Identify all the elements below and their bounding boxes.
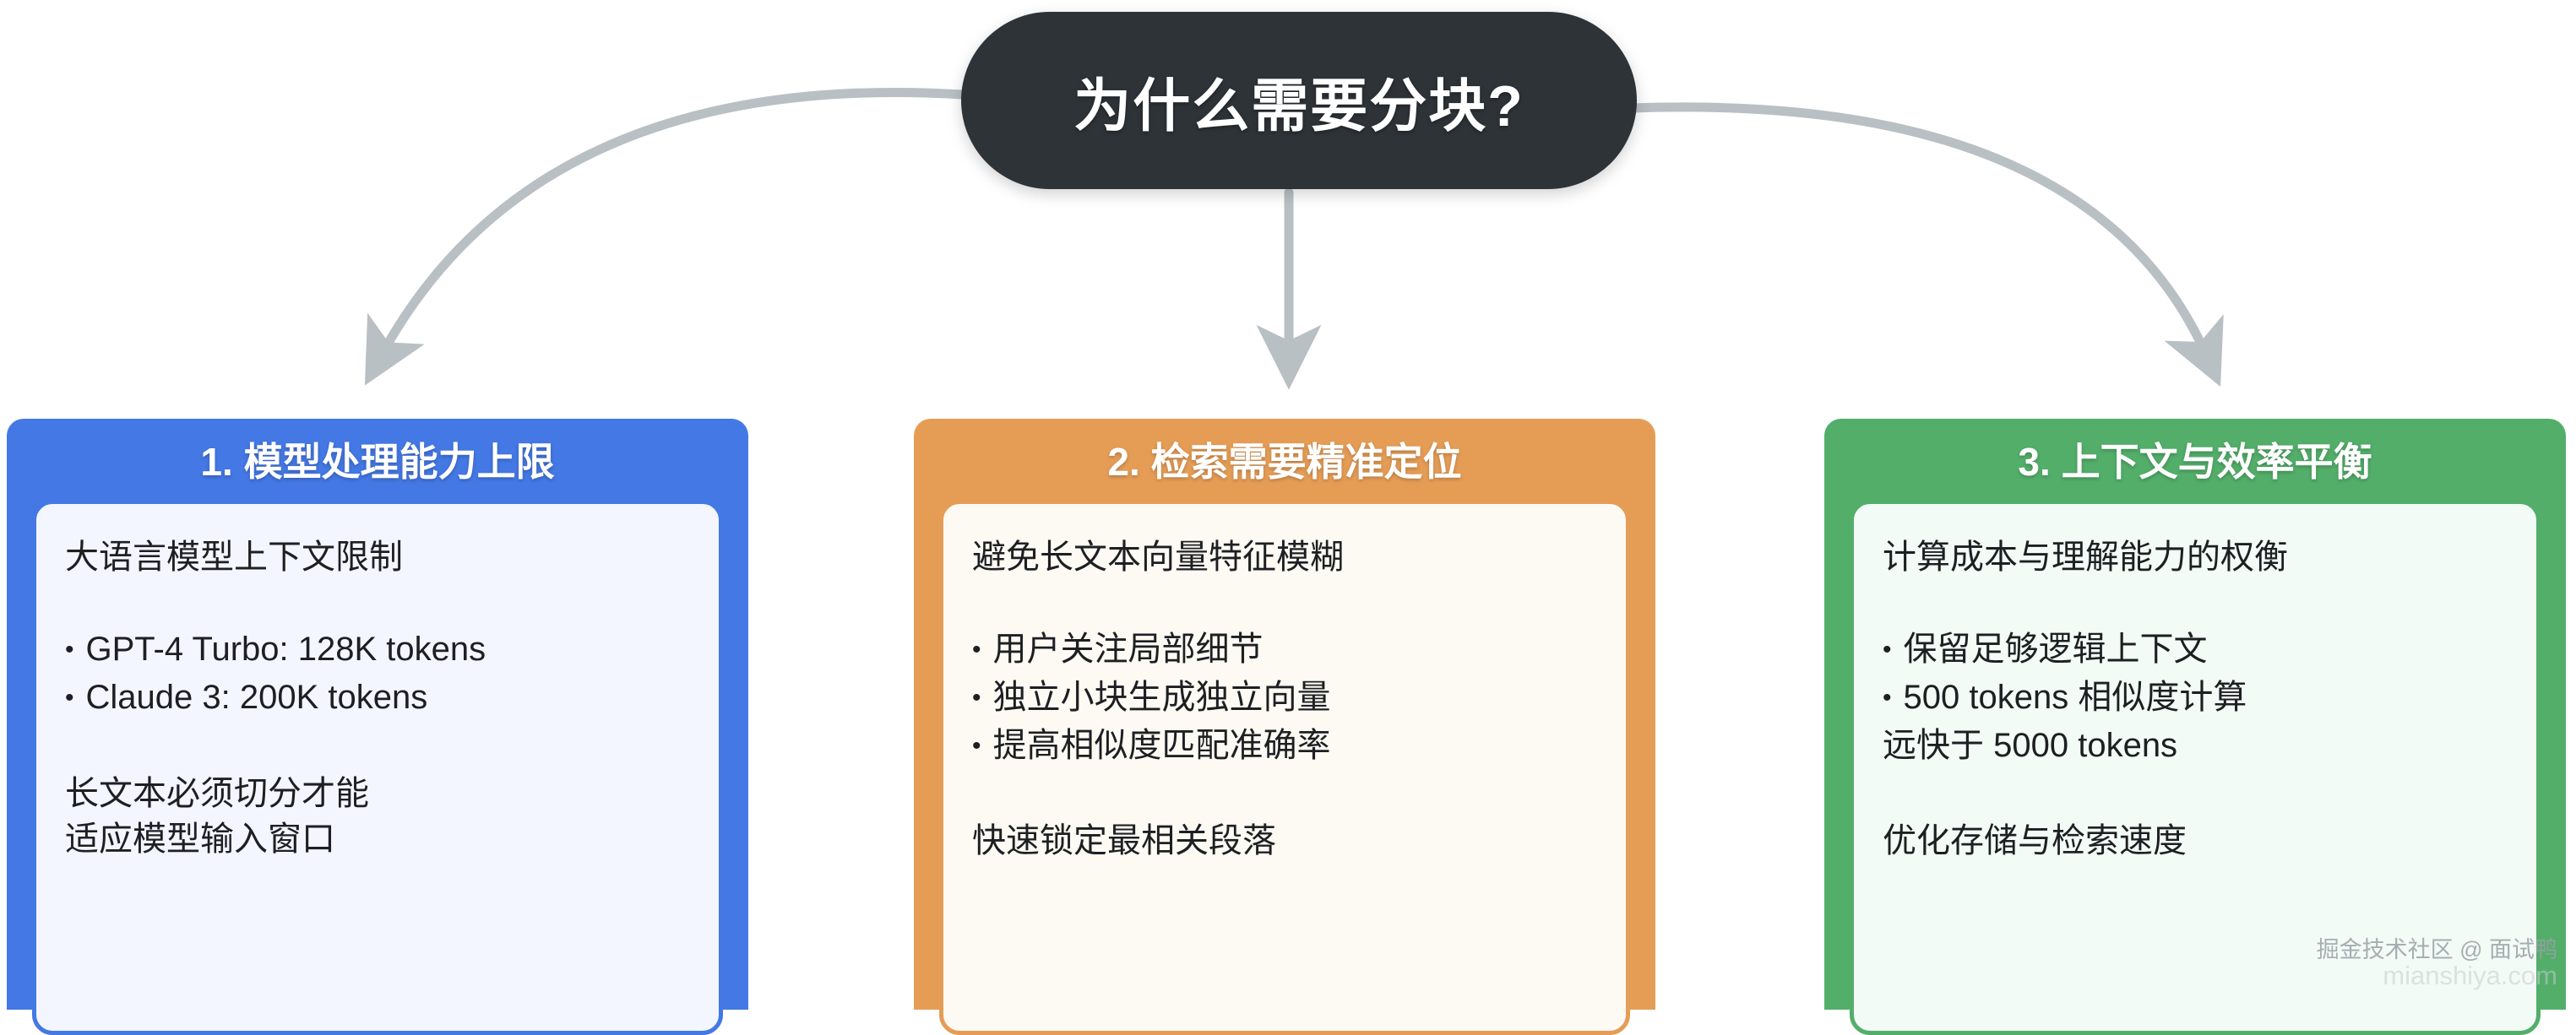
card-2-lead: 避免长文本向量特征模糊: [972, 534, 1597, 580]
arrow-root-to-card1: [382, 92, 963, 355]
root-node-title: 为什么需要分块?: [1073, 59, 1524, 143]
card-2-bullets: 用户关注局部细节 独立小块生成独立向量 提高相似度匹配准确率: [972, 626, 1597, 769]
root-node: 为什么需要分块?: [961, 12, 1637, 189]
list-item: 保留足够逻辑上下文: [1883, 626, 2508, 674]
list-item: 500 tokens 相似度计算: [1883, 674, 2508, 722]
arrow-root-to-card3: [1632, 107, 2206, 355]
list-item: 用户关注局部细节: [972, 626, 1597, 674]
card-3-header: 3. 上下文与效率平衡: [1824, 419, 2566, 500]
branch-card-1: 1. 模型处理能力上限 大语言模型上下文限制 GPT-4 Turbo: 128K…: [7, 419, 748, 1010]
list-item: 提高相似度匹配准确率: [972, 722, 1597, 770]
branch-card-2: 2. 检索需要精准定位 避免长文本向量特征模糊 用户关注局部细节 独立小块生成独…: [914, 419, 1655, 1010]
card-3-body: 计算成本与理解能力的权衡 保留足够逻辑上下文 500 tokens 相似度计算 …: [1850, 500, 2541, 1035]
card-2-tail: 快速锁定最相关段落: [972, 818, 1597, 864]
card-3-tail: 优化存储与检索速度: [1883, 818, 2508, 864]
card-3-lead: 计算成本与理解能力的权衡: [1883, 534, 2508, 580]
card-1-body: 大语言模型上下文限制 GPT-4 Turbo: 128K tokens Clau…: [32, 500, 723, 1035]
card-2-tail-line-1: 快速锁定最相关段落: [972, 818, 1597, 864]
card-1-tail-line-1: 长文本必须切分才能: [65, 771, 690, 816]
list-item: 独立小块生成独立向量: [972, 674, 1597, 722]
card-3-bullets: 保留足够逻辑上下文 500 tokens 相似度计算: [1883, 626, 2508, 722]
card-1-bullets: GPT-4 Turbo: 128K tokens Claude 3: 200K …: [65, 626, 690, 722]
card-3-plain-line: 远快于 5000 tokens: [1883, 722, 2508, 770]
card-1-lead: 大语言模型上下文限制: [65, 534, 690, 580]
list-item: GPT-4 Turbo: 128K tokens: [65, 626, 690, 674]
card-2-header: 2. 检索需要精准定位: [914, 419, 1655, 500]
list-item: Claude 3: 200K tokens: [65, 674, 690, 722]
diagram-canvas: 为什么需要分块? 1. 模型处理能力上限 大语言模型上下文限制 GPT-4 Tu…: [0, 0, 2576, 998]
card-1-header: 1. 模型处理能力上限: [7, 419, 748, 500]
branch-card-3: 3. 上下文与效率平衡 计算成本与理解能力的权衡 保留足够逻辑上下文 500 t…: [1824, 419, 2566, 1010]
card-1-tail: 长文本必须切分才能 适应模型输入窗口: [65, 771, 690, 862]
card-3-tail-line-1: 优化存储与检索速度: [1883, 818, 2508, 864]
card-2-body: 避免长文本向量特征模糊 用户关注局部细节 独立小块生成独立向量 提高相似度匹配准…: [939, 500, 1630, 1035]
card-1-tail-line-2: 适应模型输入窗口: [65, 816, 690, 862]
